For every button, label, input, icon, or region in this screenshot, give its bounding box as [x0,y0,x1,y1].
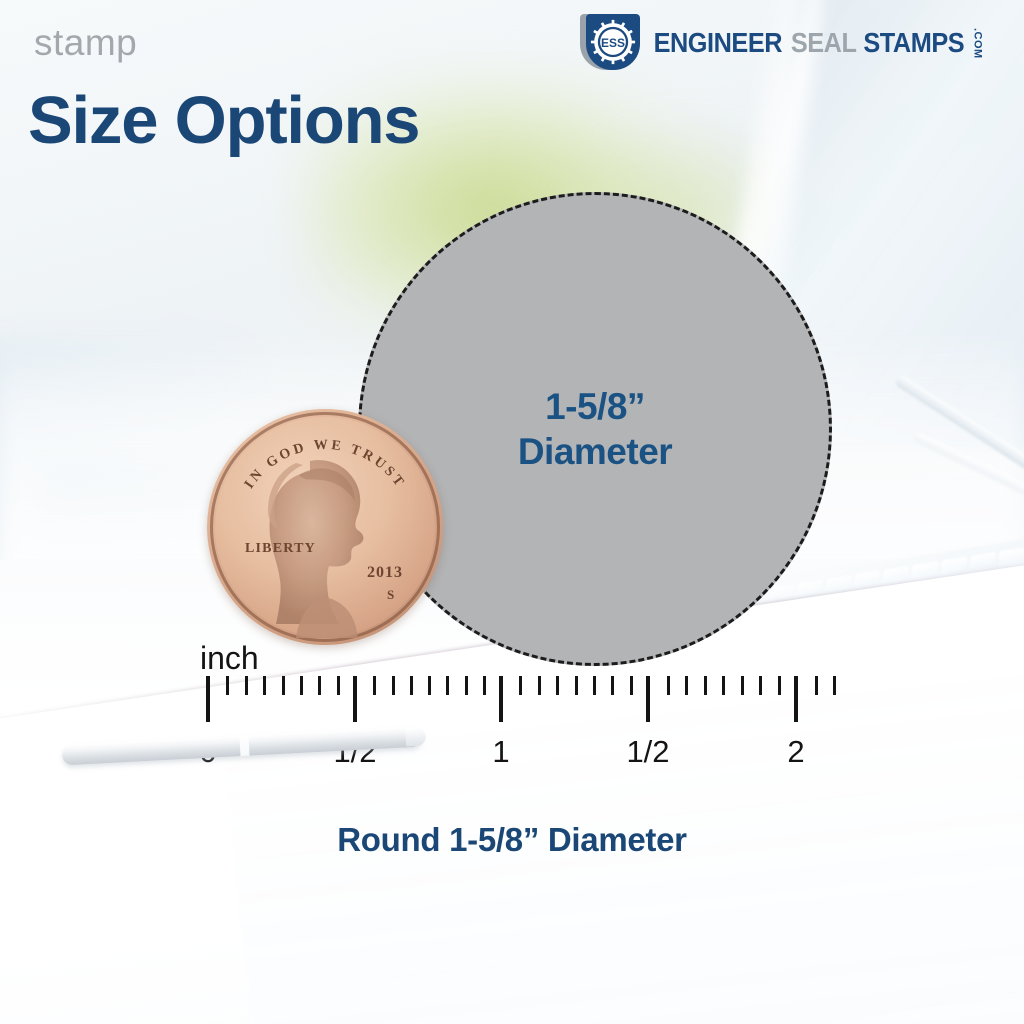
page-title: Size Options [28,82,419,159]
ess-shield-icon: ESS [580,12,642,74]
wordmark-stamps: STAMPS [863,29,964,57]
stylus-band [239,736,249,756]
stamp-shape-label: Diameter [518,429,672,474]
page-kicker: stamp [34,22,137,64]
penny-coin: IN GOD WE TRUST LIBERTY 2013 S [207,409,443,645]
stamp-size-label: 1-5/8” [545,384,645,429]
wordmark-seal: SEAL [790,29,856,57]
brand-logo[interactable]: ESS ENGINEERSEALSTAMPS.COM [580,8,1020,78]
ess-monogram: ESS [601,36,625,50]
brand-wordmark: ENGINEERSEALSTAMPS.COM [648,28,983,59]
penny-year-text: 2013 [367,564,403,581]
wordmark-engineer: ENGINEER [654,29,782,57]
penny-engraving: IN GOD WE TRUST LIBERTY 2013 S [207,409,443,645]
penny-liberty-text: LIBERTY [245,541,316,556]
size-options-graphic: ESS ENGINEERSEALSTAMPS.COM stamp Size Op… [0,0,1024,1024]
penny-mintmark-text: S [387,587,394,602]
size-caption: Round 1-5/8” Diameter [0,821,1024,859]
wordmark-tld: .COM [972,28,983,59]
gear-icon: ESS [586,14,640,70]
